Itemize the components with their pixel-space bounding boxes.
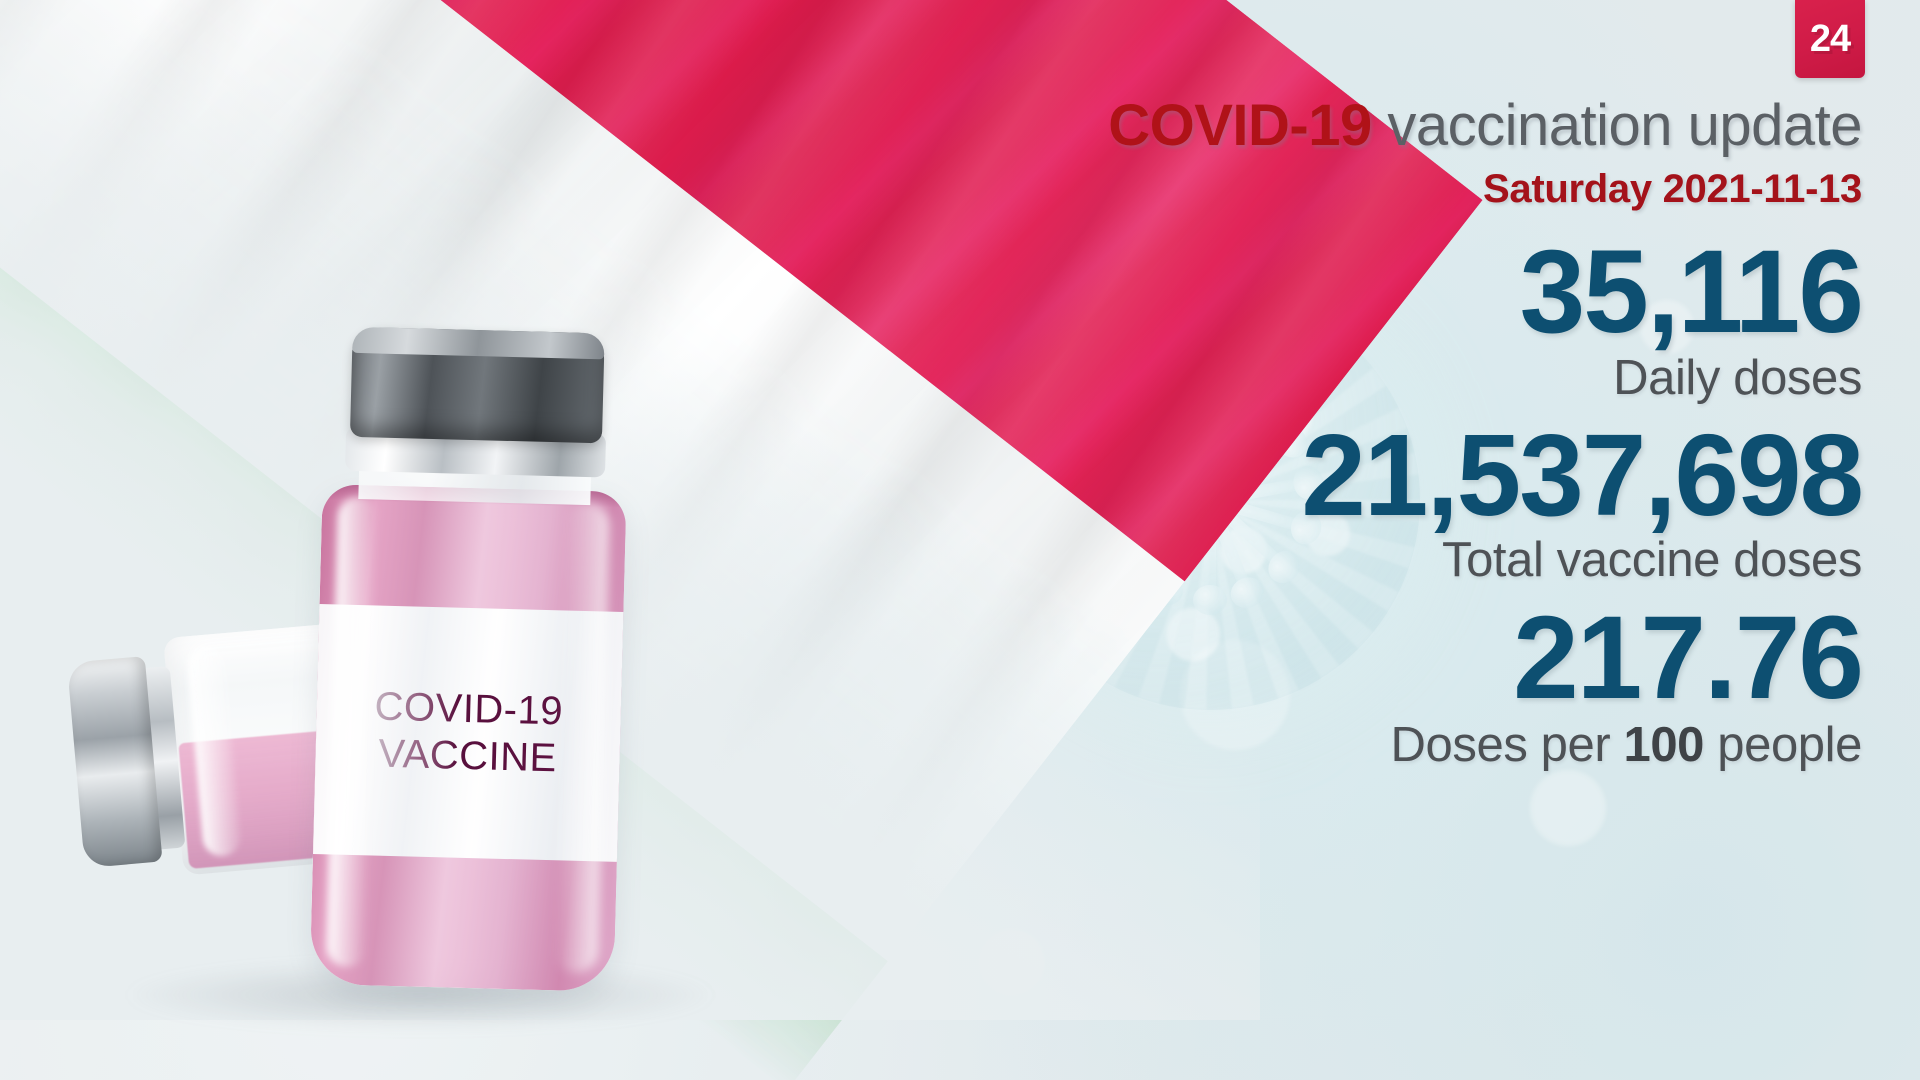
vial-label: COVID-19 VACCINE (313, 604, 623, 862)
page-title-highlight: COVID-19 (1108, 93, 1372, 158)
stat-label: Doses per 100 people (842, 719, 1862, 773)
stat-total-doses: 21,537,698 Total vaccine doses (842, 416, 1862, 588)
stat-label: Total vaccine doses (842, 534, 1862, 588)
stat-value: 21,537,698 (842, 416, 1862, 534)
page-title-rest: vaccination update (1372, 93, 1862, 158)
update-date: Saturday 2021-11-13 (842, 167, 1862, 212)
stat-value: 35,116 (842, 232, 1862, 352)
stat-label-emphasis: 100 (1623, 718, 1704, 772)
vial-label-line-1: COVID-19 (374, 683, 564, 735)
stat-daily-doses: 35,116 Daily doses (842, 232, 1862, 406)
vial-label-line-2: VACCINE (378, 731, 558, 783)
infographic-canvas: COVID-19 VACCINE 24 COVID-19 vaccination… (0, 0, 1920, 1080)
stat-label-prefix: Doses per (1391, 718, 1624, 772)
stat-value: 217.76 (842, 598, 1862, 718)
stats-panel: COVID-19 vaccination update Saturday 202… (842, 96, 1862, 783)
stat-doses-per-100: 217.76 Doses per 100 people (842, 598, 1862, 772)
bokeh-circle (980, 930, 1044, 994)
channel-24-logo[interactable]: 24 (1795, 0, 1865, 78)
stat-label-suffix: people (1704, 718, 1862, 772)
channel-24-logo-text: 24 (1810, 18, 1850, 61)
vial-body: COVID-19 VACCINE (310, 484, 627, 992)
stats-list: 35,116 Daily doses 21,537,698 Total vacc… (842, 232, 1862, 773)
stat-label: Daily doses (842, 352, 1862, 406)
page-title: COVID-19 vaccination update (842, 96, 1862, 157)
vaccine-vial-standing: COVID-19 VACCINE (291, 326, 648, 1005)
